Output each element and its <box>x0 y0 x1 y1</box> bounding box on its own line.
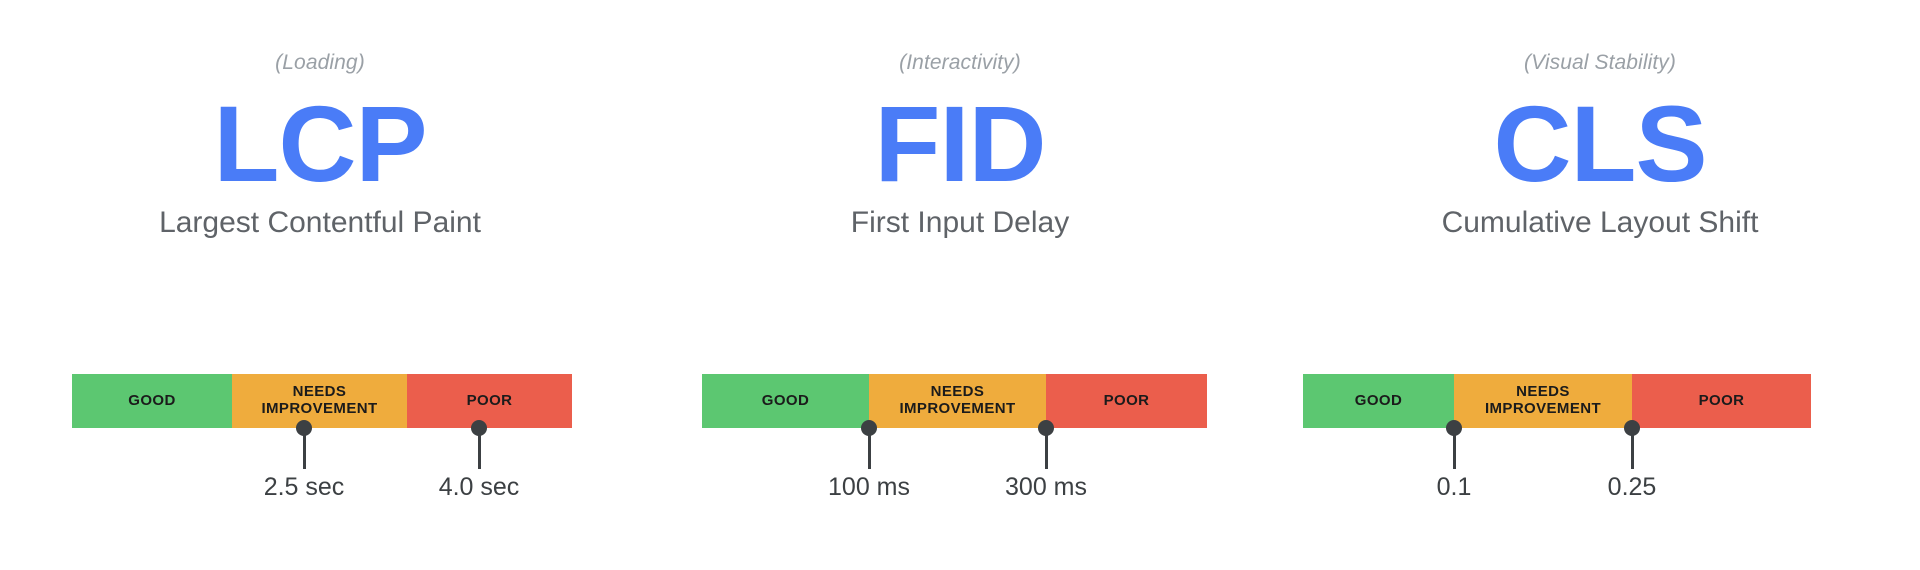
metric-acronym: CLS <box>1494 87 1707 200</box>
threshold-value-label: 4.0 sec <box>439 472 520 502</box>
metric-fullname: Cumulative Layout Shift <box>1442 206 1759 239</box>
bar-segment-label: NEEDS IMPROVEMENT <box>1485 384 1601 418</box>
bar-segment-label: GOOD <box>1355 393 1402 410</box>
metric-panel-fid: (Interactivity) FID First Input Delay GO… <box>640 0 1280 570</box>
threshold-value-label: 2.5 sec <box>264 472 345 502</box>
bar-segment-label: GOOD <box>128 393 175 410</box>
bar-segment-label: POOR <box>467 393 513 410</box>
marker-stem-icon <box>868 428 871 469</box>
bar-segment-good: GOOD <box>702 374 869 428</box>
bar-segment-label: NEEDS IMPROVEMENT <box>899 384 1015 418</box>
marker-stem-icon <box>1631 428 1634 469</box>
threshold-bar: GOOD NEEDS IMPROVEMENT POOR <box>702 374 1207 428</box>
marker-stem-icon <box>303 428 306 469</box>
metric-acronym: LCP <box>214 87 427 200</box>
threshold-value-label: 100 ms <box>828 472 910 502</box>
bar-segment-needs-improvement: NEEDS IMPROVEMENT <box>869 374 1046 428</box>
core-web-vitals-board: (Loading) LCP Largest Contentful Paint G… <box>0 0 1920 570</box>
threshold-bar-wrap: GOOD NEEDS IMPROVEMENT POOR 100 ms 300 m… <box>640 374 1280 554</box>
threshold-value-label: 300 ms <box>1005 472 1087 502</box>
metric-panel-lcp: (Loading) LCP Largest Contentful Paint G… <box>0 0 640 570</box>
threshold-bar-wrap: GOOD NEEDS IMPROVEMENT POOR 2.5 sec 4.0 … <box>0 374 640 554</box>
bar-segment-needs-improvement: NEEDS IMPROVEMENT <box>1454 374 1632 428</box>
marker-stem-icon <box>1045 428 1048 469</box>
bar-segment-good: GOOD <box>72 374 232 428</box>
bar-segment-label: GOOD <box>762 393 809 410</box>
threshold-value-label: 0.25 <box>1608 472 1657 502</box>
threshold-bar: GOOD NEEDS IMPROVEMENT POOR <box>72 374 572 428</box>
metric-acronym: FID <box>875 87 1046 200</box>
bar-segment-poor: POOR <box>407 374 572 428</box>
bar-segment-label: POOR <box>1699 393 1745 410</box>
bar-segment-needs-improvement: NEEDS IMPROVEMENT <box>232 374 407 428</box>
metric-fullname: Largest Contentful Paint <box>159 206 481 239</box>
bar-segment-poor: POOR <box>1632 374 1811 428</box>
metric-fullname: First Input Delay <box>851 206 1069 239</box>
threshold-value-label: 0.1 <box>1437 472 1472 502</box>
threshold-bar-wrap: GOOD NEEDS IMPROVEMENT POOR 0.1 0.25 <box>1280 374 1920 554</box>
metric-category-label: (Interactivity) <box>899 52 1021 73</box>
marker-stem-icon <box>478 428 481 469</box>
bar-segment-label: NEEDS IMPROVEMENT <box>261 384 377 418</box>
metric-category-label: (Loading) <box>275 52 365 73</box>
bar-segment-label: POOR <box>1104 393 1150 410</box>
metric-panel-cls: (Visual Stability) CLS Cumulative Layout… <box>1280 0 1920 570</box>
marker-stem-icon <box>1453 428 1456 469</box>
metric-category-label: (Visual Stability) <box>1524 52 1676 73</box>
threshold-bar: GOOD NEEDS IMPROVEMENT POOR <box>1303 374 1811 428</box>
bar-segment-good: GOOD <box>1303 374 1454 428</box>
bar-segment-poor: POOR <box>1046 374 1207 428</box>
